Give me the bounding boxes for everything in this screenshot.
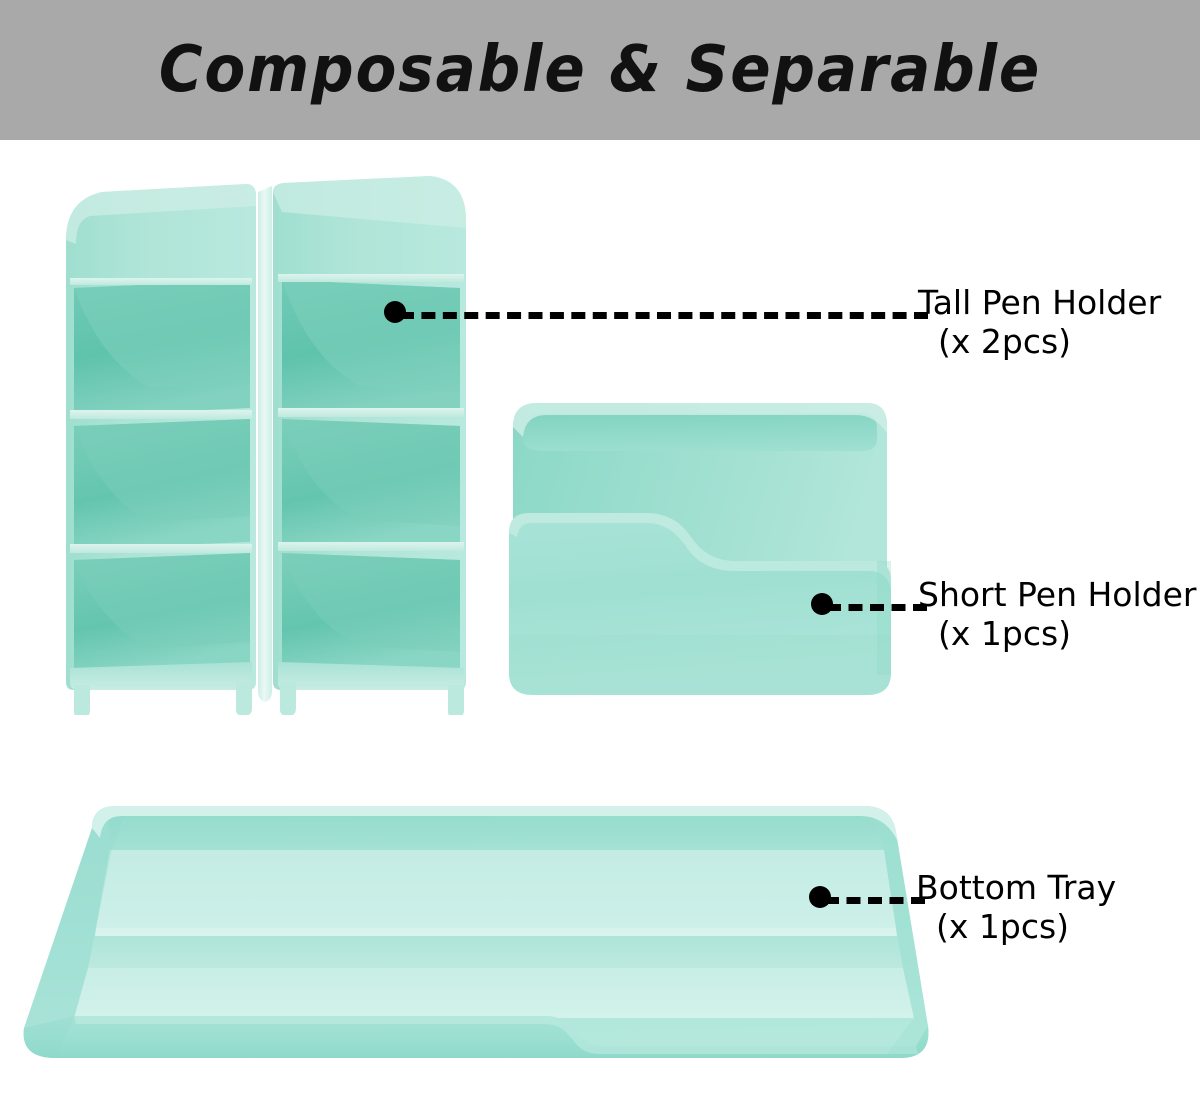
callout-label-bottom-tray: Bottom Tray (x 1pcs): [916, 869, 1116, 947]
callout-quantity: (x 1pcs): [918, 615, 1196, 654]
tall-pen-holder-unit-right: [273, 176, 466, 715]
product-photo-stage: Tall Pen Holder (x 2pcs) Short Pen Holde…: [0, 140, 1200, 1116]
short-pen-holder-icon: [495, 385, 905, 715]
leader-line: [827, 604, 927, 611]
unit-seam: [258, 186, 272, 702]
callout-label-short-pen-holder: Short Pen Holder (x 1pcs): [918, 576, 1196, 654]
leader-line: [400, 312, 928, 319]
callout-quantity: (x 2pcs): [918, 323, 1161, 362]
callout-label-tall-pen-holder: Tall Pen Holder (x 2pcs): [918, 284, 1161, 362]
header-band: Composable & Separable: [0, 0, 1200, 140]
tall-pen-holder-icon: [60, 170, 480, 715]
callout-title: Short Pen Holder: [918, 575, 1196, 614]
callout-quantity: (x 1pcs): [916, 908, 1116, 947]
leader-line: [825, 897, 925, 904]
callout-title: Tall Pen Holder: [918, 283, 1161, 322]
tall-pen-holder-unit-left: [66, 184, 256, 715]
callout-title: Bottom Tray: [916, 868, 1116, 907]
page-title: Composable & Separable: [42, 0, 1158, 140]
bottom-tray-icon: [0, 780, 940, 1110]
